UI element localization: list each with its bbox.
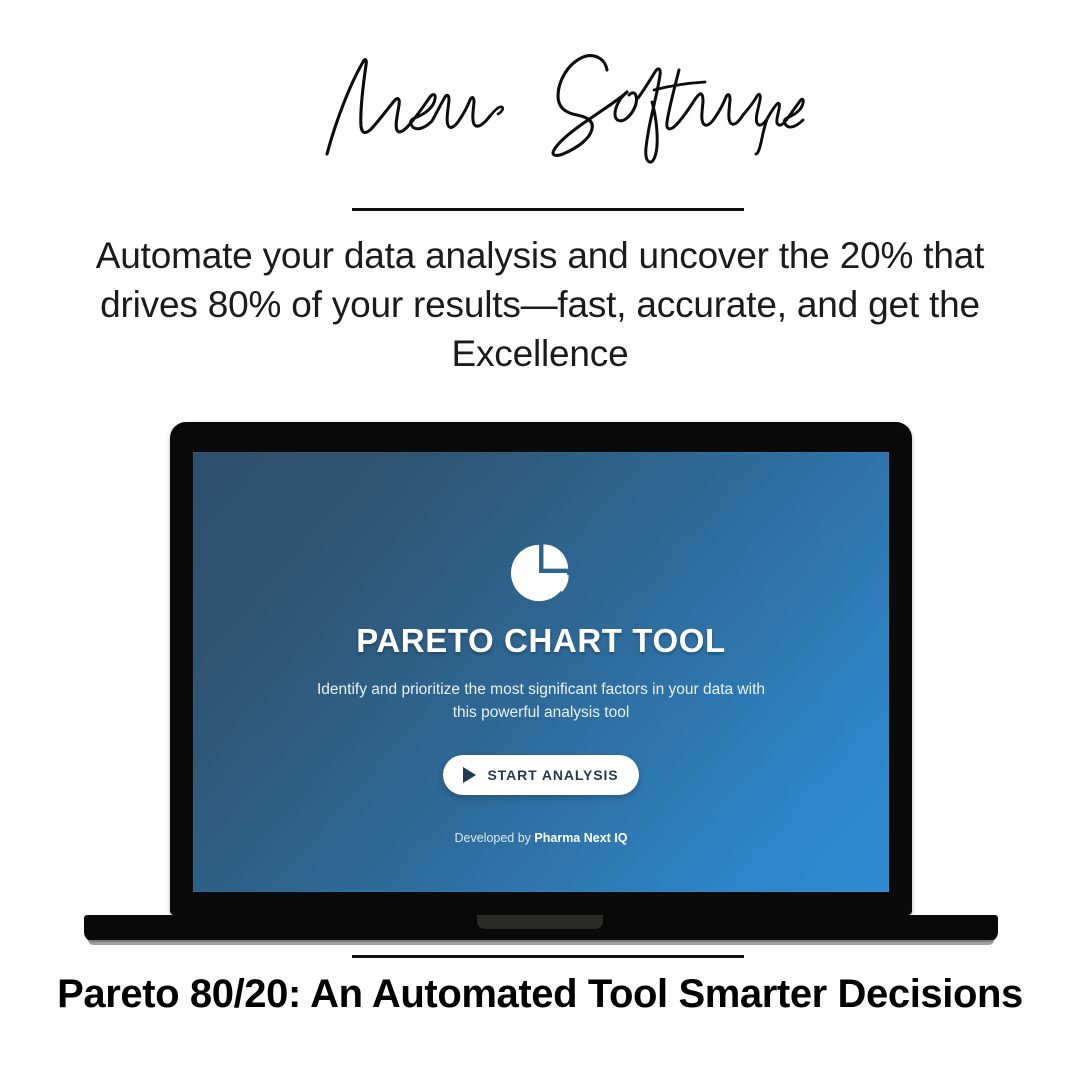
credit-prefix: Developed by xyxy=(454,831,534,845)
laptop-lid: PARETO CHART TOOL Identify and prioritiz… xyxy=(170,422,912,915)
start-analysis-label: START ANALYSIS xyxy=(487,767,618,783)
footer-headline: Pareto 80/20: An Automated Tool Smarter … xyxy=(24,972,1056,1017)
divider-bottom xyxy=(352,955,744,958)
start-analysis-button[interactable]: START ANALYSIS xyxy=(443,755,639,795)
laptop-screen: PARETO CHART TOOL Identify and prioritiz… xyxy=(193,452,889,892)
credit-brand: Pharma Next IQ xyxy=(534,831,627,845)
script-title-artwork xyxy=(305,42,775,170)
script-title xyxy=(0,38,1080,173)
laptop-mockup: PARETO CHART TOOL Identify and prioritiz… xyxy=(0,422,1080,942)
poster-canvas: Automate your data analysis and uncover … xyxy=(0,0,1080,1080)
laptop-base-shadow xyxy=(88,940,994,945)
screen-subtitle: Identify and prioritize the most signifi… xyxy=(316,678,766,725)
divider-top xyxy=(352,208,744,211)
play-icon xyxy=(463,767,476,783)
screen-title: PARETO CHART TOOL xyxy=(356,622,726,660)
laptop-trackpad-notch xyxy=(477,915,603,929)
developer-credit: Developed by Pharma Next IQ xyxy=(454,831,627,845)
subheading-text: Automate your data analysis and uncover … xyxy=(80,232,1000,378)
pie-chart-icon xyxy=(510,542,572,604)
